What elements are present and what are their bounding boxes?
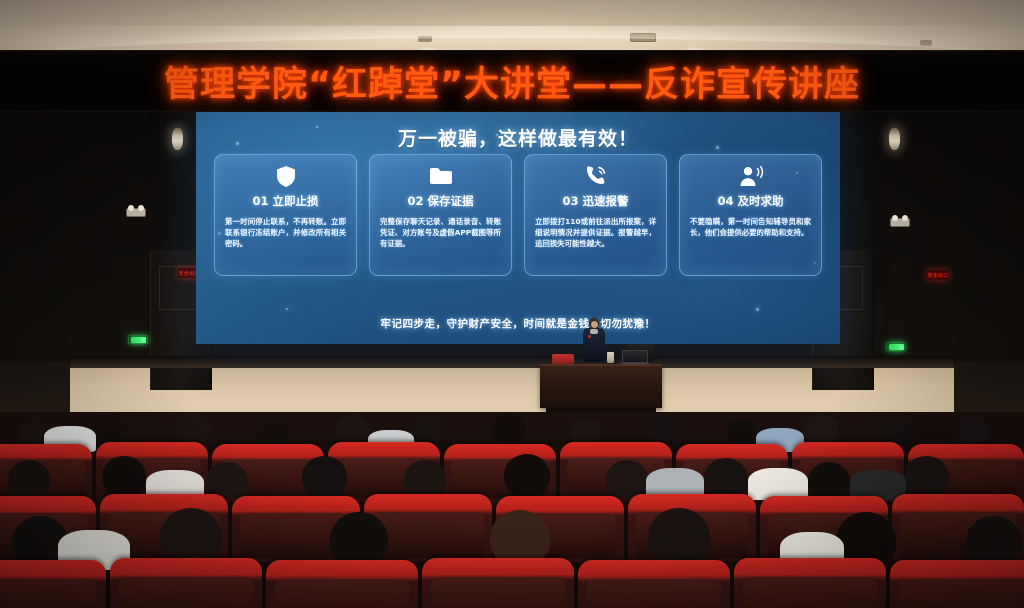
card-body: 不要隐瞒，第一时间告知辅导员和家长，他们会提供必要的帮助和支持。 — [687, 216, 814, 238]
ceiling — [0, 0, 1024, 56]
audience-head — [404, 460, 446, 498]
card-body: 完整保存聊天记录、通话录音、转账凭证、对方账号及虚假APP截图等所有证据。 — [377, 216, 504, 249]
seat[interactable] — [734, 558, 886, 608]
audience-head — [258, 418, 288, 445]
slide-card-03: 03 迅速报警 立即拨打110或前往派出所报案，详细说明情况并提供证据。报警越早… — [524, 154, 667, 276]
presenter-badge — [588, 335, 591, 338]
audience-head — [648, 415, 681, 444]
exit-arrow-icon — [900, 345, 904, 349]
projection-screen: 万一被骗，这样做最有效！ 01 立即止损 第一时间停止联系，不再转账。立即联系银… — [196, 112, 840, 344]
wall-sconce-lamp — [172, 128, 183, 150]
audience-head — [336, 414, 369, 443]
audience-head — [176, 414, 210, 444]
lecture-hall-photo: 管理学院“红踔堂”大讲堂——反诈宣传讲座 安全出口 安全出口 — [0, 0, 1024, 608]
audience-head — [412, 417, 443, 444]
audience-head — [330, 512, 388, 566]
audience-head — [570, 418, 600, 444]
audience-head — [504, 454, 550, 496]
slide-card-04: 04 及时求助 不要隐瞒，第一时间告知辅导员和家长，他们会提供必要的帮助和支持。 — [679, 154, 822, 276]
emergency-light — [126, 208, 146, 217]
slide-title: 万一被骗，这样做最有效！ — [196, 124, 840, 151]
audience-head — [648, 508, 710, 566]
card-title: 01 立即止损 — [252, 193, 318, 209]
emergency-exit-sign-red-right: 安全出口 — [927, 270, 949, 280]
slide-card-02: 02 保存证据 完整保存聊天记录、通话录音、转账凭证、对方账号及虚假APP截图等… — [369, 154, 512, 276]
audience-head — [8, 460, 50, 498]
audience-head — [102, 456, 146, 496]
wall-sconce-lamp — [889, 128, 900, 150]
slide-card-row: 01 立即止损 第一时间停止联系，不再转账。立即联系银行冻结账户，并修改所有相关… — [214, 154, 822, 276]
red-object-on-table — [552, 354, 574, 364]
audience-head — [804, 414, 838, 444]
exit-sign-left — [128, 335, 148, 344]
card-title: 03 迅速报警 — [562, 193, 628, 209]
red-sign-text: 安全出口 — [927, 272, 948, 279]
presenter-face — [591, 321, 598, 328]
presenter-collar — [590, 329, 598, 334]
audience-head — [956, 415, 989, 444]
emergency-light — [890, 218, 910, 227]
led-banner: 管理学院“红踔堂”大讲堂——反诈宣传讲座 — [0, 50, 1024, 112]
stage-wing-right — [954, 362, 1024, 412]
decorative-particle — [286, 308, 288, 310]
laptop-screen — [622, 350, 648, 363]
banner-title: 管理学院“红踔堂”大讲堂——反诈宣传讲座 — [164, 56, 860, 107]
seat[interactable] — [578, 560, 730, 608]
seat[interactable] — [0, 560, 106, 608]
audience-head — [704, 458, 748, 498]
audience-head — [606, 460, 648, 498]
slide-card-01: 01 立即止损 第一时间停止联系，不再转账。立即联系银行冻结账户，并修改所有相关… — [214, 154, 357, 276]
seat[interactable] — [110, 558, 262, 608]
ceiling-fixture — [920, 40, 932, 46]
audience-head — [302, 456, 347, 497]
exit-sign-right — [886, 342, 906, 351]
audience-head — [904, 456, 949, 497]
audience-head — [726, 418, 757, 445]
folder-icon — [428, 164, 454, 188]
seat[interactable] — [422, 558, 574, 608]
seated-audience — [0, 412, 1024, 608]
slide-footer: 牢记四步走，守护财产安全，时间就是金钱，切勿犹豫！ — [196, 316, 840, 331]
phone-call-icon — [583, 164, 609, 188]
card-title: 02 保存证据 — [407, 193, 473, 209]
audience-head — [492, 413, 526, 443]
presenter-table — [540, 364, 662, 408]
audience-head — [966, 516, 1022, 566]
stage-backline — [70, 356, 954, 368]
seat[interactable] — [890, 560, 1024, 608]
card-body: 第一时间停止联系，不再转账。立即联系银行冻结账户，并修改所有相关密码。 — [222, 216, 349, 249]
card-title: 04 及时求助 — [717, 193, 783, 209]
stage-wing-left — [0, 362, 70, 412]
person-speaking-icon — [738, 164, 764, 188]
decorative-particle — [756, 308, 759, 311]
shield-icon — [273, 164, 299, 188]
cup-on-table — [607, 352, 614, 363]
exit-arrow-icon — [142, 338, 146, 342]
card-body: 立即拨打110或前往派出所报案，详细说明情况并提供证据。报警越早，追回损失可能性… — [532, 216, 659, 249]
audience-head — [808, 462, 850, 499]
seat[interactable] — [266, 560, 418, 608]
presentation-slide: 万一被骗，这样做最有效！ 01 立即止损 第一时间停止联系，不再转账。立即联系银… — [196, 112, 840, 344]
